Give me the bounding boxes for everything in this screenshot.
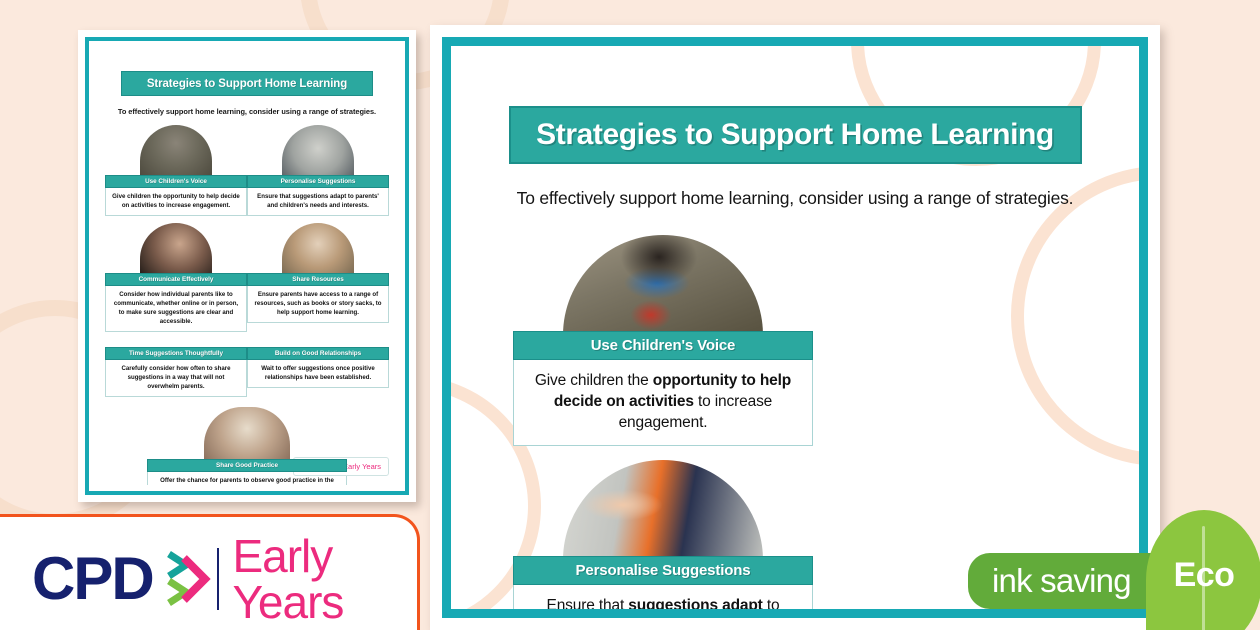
poster-card-body: Ensure that suggestions adapt to parents… (513, 585, 813, 609)
thumbnail-card: Personalise Suggestions Ensure that sugg… (247, 123, 389, 216)
cpd-early-years-logo-panel: CPD Early Years (0, 514, 420, 630)
thumbnail-subtitle: To effectively support home learning, co… (102, 107, 392, 116)
thumbnail-teal-frame: Strategies to Support Home Learning To e… (85, 37, 409, 495)
poster-card: Personalise Suggestions Ensure that sugg… (513, 456, 813, 609)
cpd-wordmark: CPD (32, 549, 153, 609)
early-years-wordmark: Early Years (232, 533, 417, 625)
thumbnail-card: Time Suggestions Thoughtfully Carefully … (105, 337, 247, 397)
craft-table-photo (282, 223, 354, 275)
resource-thumbnail[interactable]: Strategies to Support Home Learning To e… (78, 30, 416, 502)
thumbnail-title-bar: Strategies to Support Home Learning (121, 71, 373, 96)
thumbnail-card-heading: Share Good Practice (216, 462, 278, 469)
thumbnail-card-heading: Personalise Suggestions (281, 178, 356, 185)
thumbnail-row-2: Communicate Effectively Consider how ind… (105, 221, 389, 332)
chevron-icon (166, 550, 204, 608)
poster-title-bar: Strategies to Support Home Learning (509, 106, 1082, 164)
thumbnail-card-heading: Communicate Effectively (139, 276, 214, 283)
poster-card-body: Give children the opportunity to help de… (513, 360, 813, 446)
puzzle-hands-photo (282, 125, 354, 177)
poster-title: Strategies to Support Home Learning (536, 118, 1054, 152)
observation-photo (204, 407, 290, 461)
thumbnail-row-3: Time Suggestions Thoughtfully Carefully … (105, 337, 389, 397)
child-outdoors-photo (563, 235, 763, 335)
poster-subtitle: To effectively support home learning, co… (451, 188, 1139, 209)
thumbnail-card: Build on Good Relationships Wait to offe… (247, 337, 389, 397)
poster-card-heading: Personalise Suggestions (576, 562, 751, 579)
thumbnail-row-1: Use Children's Voice Give children the o… (105, 123, 389, 216)
thumbnail-card: Use Children's Voice Give children the o… (105, 123, 247, 216)
poster-preview-large[interactable]: Strategies to Support Home Learning To e… (430, 25, 1160, 630)
thumbnail-early-years-text: Early Years (343, 462, 381, 471)
thumbnail-card-heading: Time Suggestions Thoughtfully (129, 350, 223, 357)
poster-card: Use Children's Voice Give children the o… (513, 231, 813, 446)
thumbnail-card: Communicate Effectively Consider how ind… (105, 221, 247, 332)
thumbnail-card-body: Ensure that suggestions adapt to parents… (247, 188, 389, 216)
eco-label: Eco (1146, 556, 1260, 595)
thumbnail-card-grid: Use Children's Voice Give children the o… (105, 123, 389, 485)
logo-divider (217, 548, 220, 610)
thumbnail-card-body: Ensure parents have access to a range of… (247, 286, 389, 323)
thumbnail-title: Strategies to Support Home Learning (147, 78, 347, 90)
leaf-icon: Eco (1146, 510, 1260, 630)
parent-child-photo (140, 223, 212, 275)
puzzle-hands-photo (563, 460, 763, 560)
thumbnail-card-body: Wait to offer suggestions once positive … (247, 360, 389, 388)
thumbnail-card-heading: Build on Good Relationships (275, 350, 361, 357)
poster-card-heading: Use Children's Voice (591, 337, 736, 354)
thumbnail-card-body: Carefully consider how often to share su… (105, 360, 247, 397)
thumbnail-card-heading: Use Children's Voice (145, 178, 207, 185)
thumbnail-card: Share Resources Ensure parents have acce… (247, 221, 389, 332)
thumbnail-card-heading: Share Resources (292, 276, 343, 283)
thumbnail-card-body: Consider how individual parents like to … (105, 286, 247, 332)
poster-teal-frame: Strategies to Support Home Learning To e… (442, 37, 1148, 618)
poster-page: Strategies to Support Home Learning To e… (451, 46, 1139, 609)
thumbnail-card-body: Give children the opportunity to help de… (105, 188, 247, 216)
child-outdoors-photo (140, 125, 212, 177)
ink-saving-label: ink saving (992, 562, 1131, 600)
